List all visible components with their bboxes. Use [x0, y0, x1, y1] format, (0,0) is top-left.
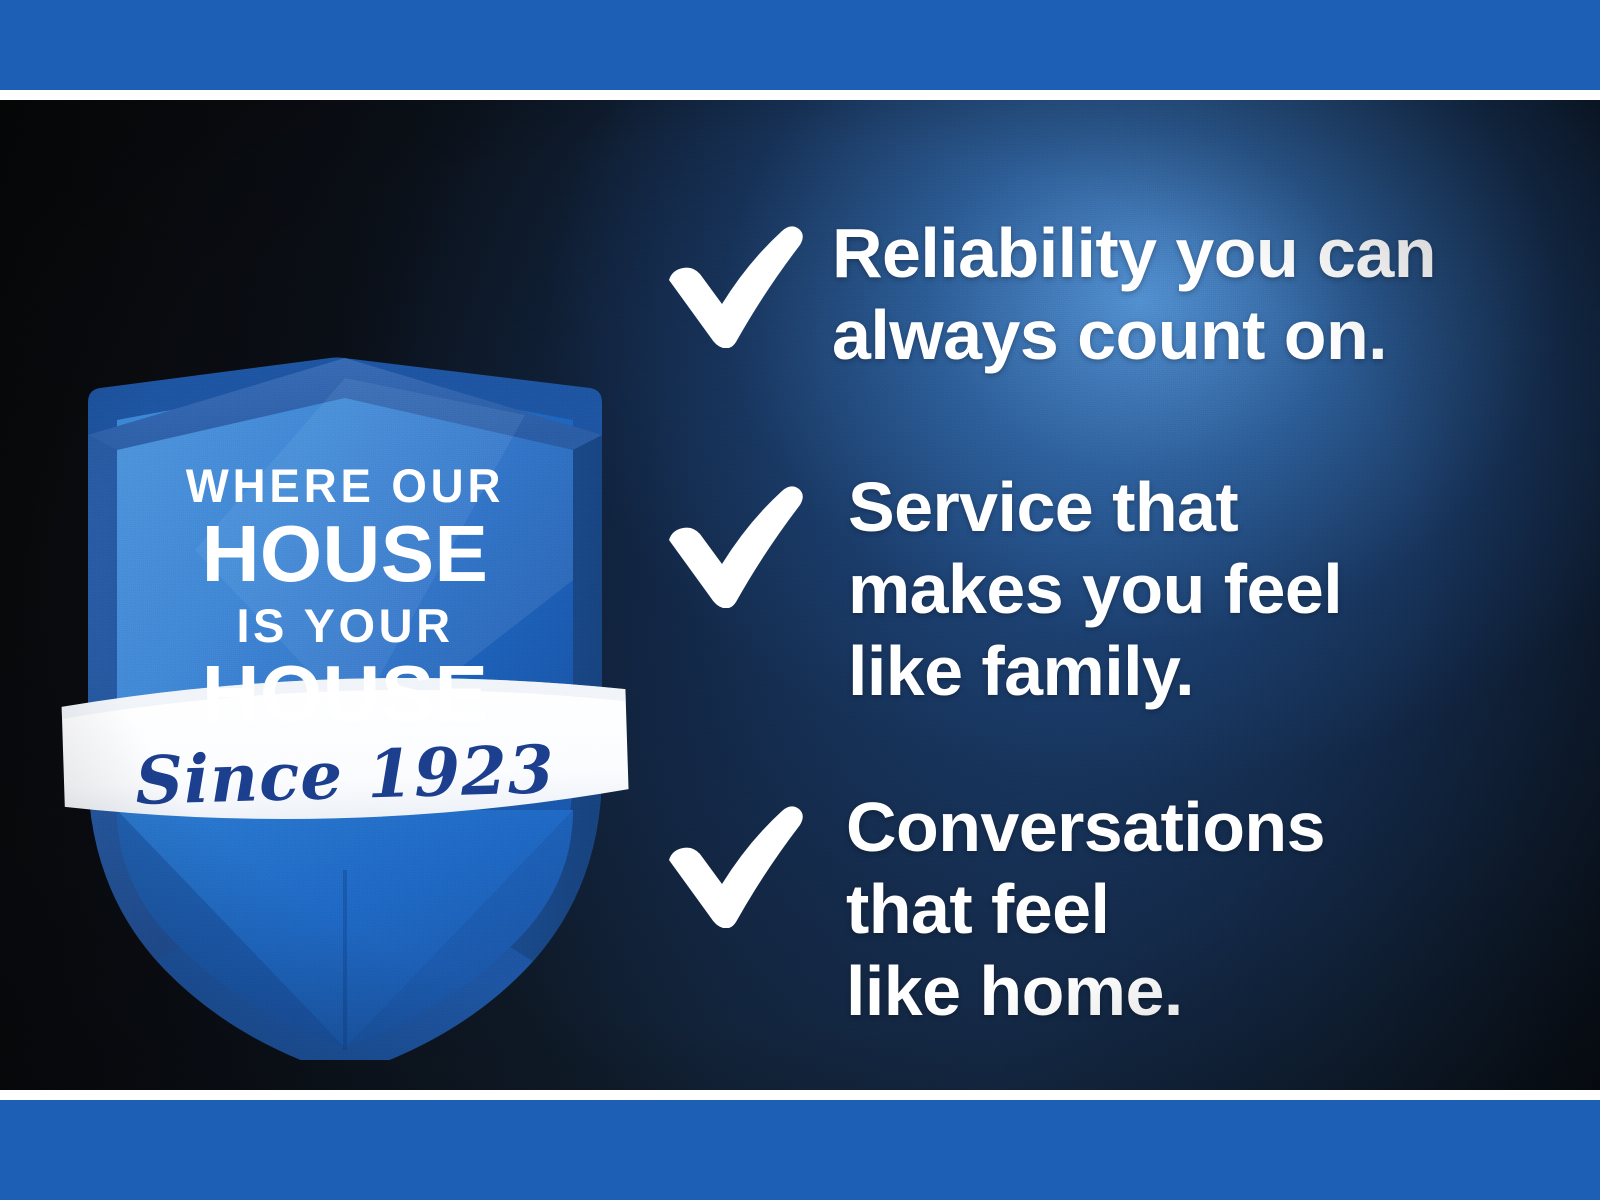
- shield-line-4: House: [55, 654, 635, 734]
- list-item-label: Reliability you can always count on.: [832, 212, 1436, 376]
- bottom-brand-bar: [0, 1100, 1600, 1200]
- shield-line-2: House: [55, 514, 635, 594]
- shield-since-banner-text: Since 1923: [54, 734, 636, 816]
- shield-line-1: Where Our: [64, 462, 627, 509]
- shield-line-3: Is Your: [55, 602, 635, 649]
- main-stage: Where Our House Is Your House Since 1923…: [0, 100, 1600, 1090]
- list-item-label: Conversations that feel like home.: [846, 786, 1325, 1032]
- list-item-label: Service that makes you feel like family.: [848, 466, 1342, 712]
- checkmark-icon: [660, 218, 810, 348]
- bottom-divider-rule: [0, 1090, 1600, 1100]
- top-divider-rule: [0, 90, 1600, 100]
- list-item: Conversations that feel like home.: [660, 790, 1325, 1032]
- checkmark-icon: [660, 478, 810, 608]
- promo-graphic: Where Our House Is Your House Since 1923…: [0, 0, 1600, 1200]
- list-item: Reliability you can always count on.: [660, 210, 1436, 376]
- list-item: Service that makes you feel like family.: [660, 470, 1342, 712]
- shield-emblem: Where Our House Is Your House Since 1923: [55, 250, 635, 1060]
- checkmark-icon: [660, 798, 810, 928]
- top-brand-bar: [0, 0, 1600, 90]
